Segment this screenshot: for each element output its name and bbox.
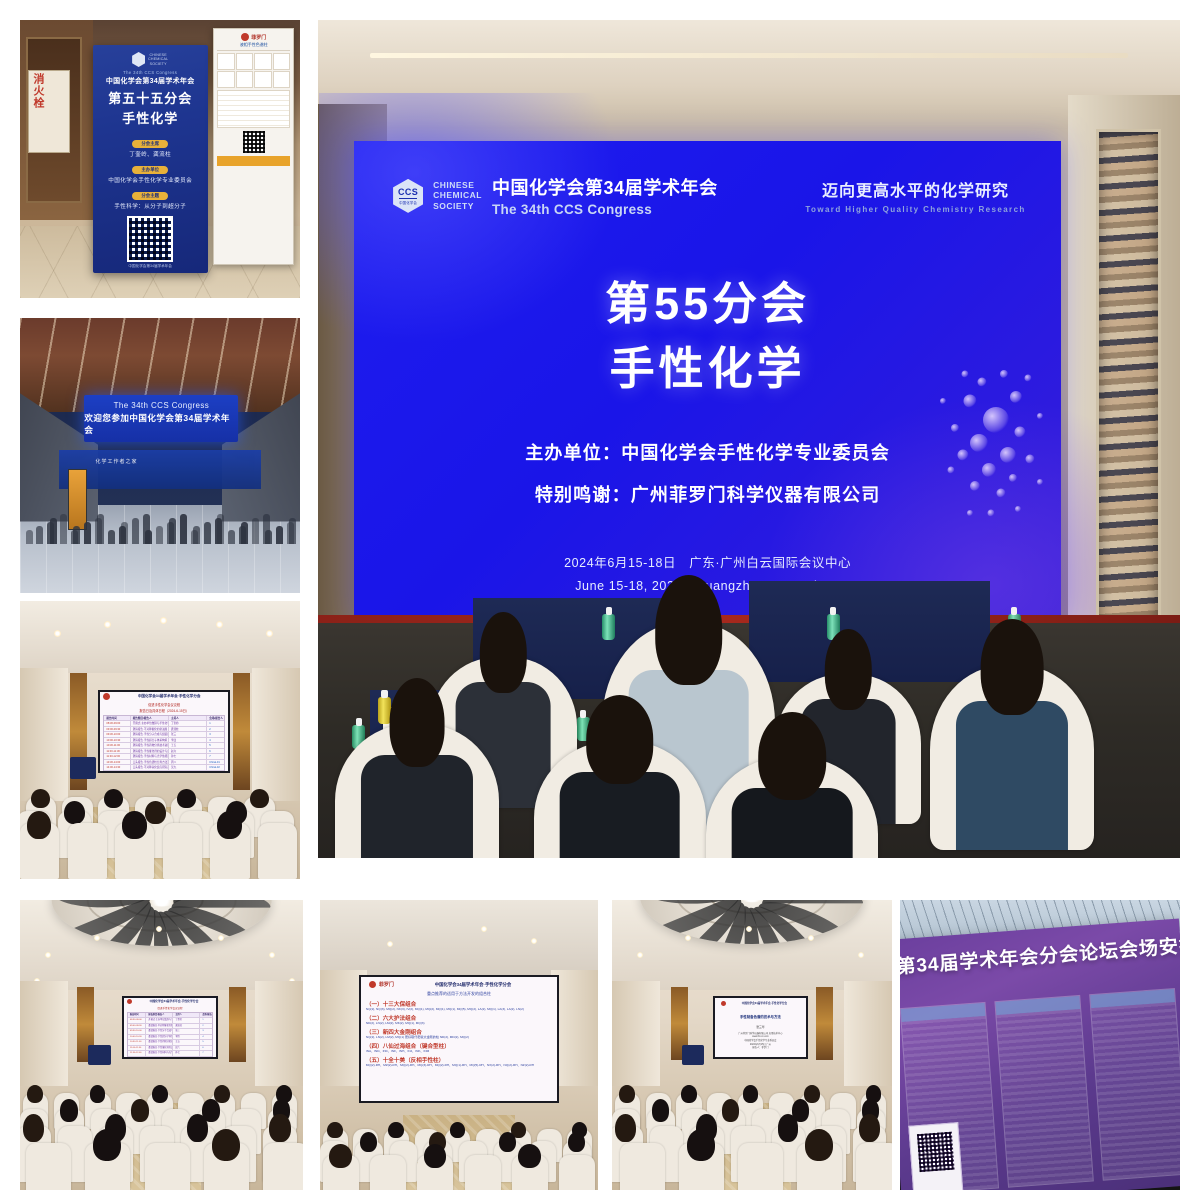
person xyxy=(228,530,235,544)
table-cell: 5 xyxy=(200,1040,212,1045)
projection-screen: 菲罗门 中国化学会34届学术年会·手性化学分会 重点推荐的适用于方法开发的组合柱… xyxy=(359,975,559,1103)
chromatogram xyxy=(217,71,235,88)
slide-title: 中国化学会34届学术年会·手性化学分会 xyxy=(135,999,213,1003)
attendee-head xyxy=(27,1085,43,1103)
chair xyxy=(738,1143,783,1190)
chair xyxy=(559,1155,595,1191)
person xyxy=(84,522,91,544)
poster-title: 液相手性色谱柱 xyxy=(217,42,290,48)
table-header-cell: 会场/报告人 xyxy=(200,1013,212,1018)
table-cell: 邀请报告·手性药物分离技术进展 xyxy=(146,1040,173,1045)
poster-qr-code xyxy=(243,131,265,153)
table-header-cell: 主持人 xyxy=(173,1013,200,1018)
attendee-head xyxy=(187,1114,208,1142)
chair xyxy=(370,1155,406,1191)
slide-subtitle: 重点推荐的适用于方法开发的组合柱 xyxy=(366,991,552,997)
person xyxy=(97,514,104,544)
table-cell: 2 xyxy=(207,727,224,732)
person xyxy=(252,518,259,544)
attendee-head xyxy=(131,1099,149,1121)
table-cell: 7 xyxy=(207,754,224,759)
table-cell: 3 xyxy=(207,732,224,737)
attendee-head xyxy=(388,1122,404,1139)
attendee-head xyxy=(859,1114,880,1142)
table-cell: 龚流柱 xyxy=(169,727,207,732)
table-cell: 6 xyxy=(207,749,224,754)
table-cell: 丁奎岭 xyxy=(173,1018,200,1023)
list-item-detail: INA、IND、INC、INF、INH、INJ、INK、INM xyxy=(366,1050,552,1054)
banner-organizer: 中国化学会手性化学专业委员会 xyxy=(98,176,203,184)
booth-label: 化学工作者之家 xyxy=(95,458,137,465)
led-banner-cn: 欢迎您参加中国化学会第34届学术年会 xyxy=(84,412,238,436)
attendee-head xyxy=(687,1129,715,1161)
chair xyxy=(620,1143,665,1190)
attendee xyxy=(732,724,853,858)
table-cell: 龚流柱 xyxy=(173,1024,200,1029)
brand-logo-icon xyxy=(241,33,249,41)
chromatogram xyxy=(273,71,291,88)
chromatogram-grid xyxy=(217,53,290,88)
slide-header: 中国化学会34届学术年会·手性化学分会 xyxy=(100,692,228,701)
attendee-body xyxy=(956,701,1068,849)
banner-session-line1: 第五十五分会 xyxy=(98,91,203,107)
attendee-head xyxy=(152,1085,168,1103)
audience xyxy=(318,20,1180,858)
banner-session-line2: 手性化学 xyxy=(98,111,203,127)
ccs-society-text: CHINESECHEMICALSOCIETY xyxy=(148,53,168,66)
poster-bottom-stripe xyxy=(217,156,290,166)
attendee-head xyxy=(805,1129,833,1161)
attendee-head xyxy=(778,1114,799,1142)
attendee-head xyxy=(214,1085,230,1103)
table-cell: 10:30-11:00 xyxy=(128,1040,147,1045)
photo-session-room-table-slide: 中国化学会34届学术年会·手性化学分会 促进手性化学会议议程 报告日及具体日程（… xyxy=(20,601,300,879)
table-cell: 邀请报告·手性分子合成与组装的前沿策略 xyxy=(146,1029,173,1034)
list-item-detail: NQ(2), LN(2), LM(2), MQ(1) 更好取代老版大金刚的柱 N… xyxy=(366,1036,552,1040)
photo-room-wide-left: 中国化学会34届学术年会·手性化学分会 促进手性化学会议议程 报告时间报告题目/… xyxy=(20,900,303,1190)
photo-room-list-slide: 菲罗门 中国化学会34届学术年会·手性化学分会 重点推荐的适用于方法开发的组合柱… xyxy=(320,900,598,1190)
board-rows xyxy=(1091,1002,1180,1180)
attendee-head xyxy=(499,1132,516,1153)
room-ceiling xyxy=(20,601,300,673)
slide-header: 菲罗门 中国化学会34届学术年会·手性化学分会 xyxy=(366,980,552,989)
poster-spec-table xyxy=(217,90,290,128)
person xyxy=(241,522,248,544)
list-item-detail: MQ(2)-RH、MZ(2)-RH、MQ(2)-RH、MQ(3)-RH、MQ(2… xyxy=(366,1064,552,1068)
table-cell: 张三 xyxy=(169,732,207,737)
slide-title: 中国化学会34届学术年会·手性化学分会 xyxy=(397,982,549,988)
table-cell: 开幕式·主办单位致辞与手性化学委员会介绍 xyxy=(146,1018,173,1023)
photo-collage: 消火栓 CHINESECHEMICALSOCIETY The 34th CCS … xyxy=(0,0,1200,1200)
banner-theme: 手性科学：从分子到超分子 xyxy=(98,202,203,210)
table-cell: 10:30-11:00 xyxy=(104,743,130,748)
audience xyxy=(612,1051,892,1190)
list-item: （二）六大护法组合ND(2), LN(2), LM(2), MK(2), MQ(… xyxy=(366,1014,552,1026)
attendee-head xyxy=(652,1099,669,1121)
table-cell: 11:30-12:00 xyxy=(104,754,130,759)
banner-congress-en: The 34th CCS Congress xyxy=(98,70,203,75)
chromatogram xyxy=(273,53,291,70)
table-cell: 5 xyxy=(207,743,224,748)
photo-schedule-board: 第34届学术年会分会论坛会场安排 xyxy=(900,900,1180,1190)
table-cell: 赵六 xyxy=(169,749,207,754)
divider xyxy=(217,50,290,51)
table-header-cell: 报告题目/报告人 xyxy=(146,1013,173,1018)
attendee xyxy=(559,707,680,858)
table-cell: 丁奎岭 xyxy=(169,721,207,726)
table-cell: 4 xyxy=(207,738,224,743)
attendee-head xyxy=(23,1114,44,1142)
photo-convention-hall: The 34th CCS Congress 欢迎您参加中国化学会第34届学术年会… xyxy=(20,318,300,593)
person xyxy=(36,526,43,544)
table-header-cell: 报告题目/报告人 xyxy=(131,716,169,721)
list-item: （一）十三大保组合NQ(2), NQ(3), MQ(2), NK(3), IV(… xyxy=(366,1000,552,1012)
table-cell: 张三 xyxy=(173,1029,200,1034)
table-cell: 李四 xyxy=(169,738,207,743)
person xyxy=(289,518,296,544)
schedule-board: 第34届学术年会分会论坛会场安排 xyxy=(900,918,1180,1190)
board-rows xyxy=(996,1009,1092,1187)
slide-list: 菲罗门 中国化学会34届学术年会·手性化学分会 重点推荐的适用于方法开发的组合柱… xyxy=(361,977,557,1101)
person xyxy=(169,518,176,544)
chair xyxy=(263,1143,303,1190)
banner-congress-cn: 中国化学会第34届学术年会 xyxy=(98,76,203,86)
table-cell: 邀请报告·手性超分子体系构筑 xyxy=(131,738,169,743)
attendee-head xyxy=(360,1132,377,1153)
attendee xyxy=(956,632,1068,850)
person xyxy=(180,514,187,544)
table-cell: 10:00-10:30 xyxy=(128,1035,147,1040)
table-cell: 1 xyxy=(207,721,224,726)
banner-qr-code xyxy=(127,216,173,262)
table-header-cell: 报告时间 xyxy=(128,1013,147,1018)
list-item: （五）十全十美（反相手性柱）MQ(2)-RH、MZ(2)-RH、MQ(2)-RH… xyxy=(366,1056,552,1068)
attendee-head xyxy=(655,575,723,686)
attendee-head xyxy=(104,789,123,809)
brand-logo-icon xyxy=(369,981,376,988)
led-welcome-banner: The 34th CCS Congress 欢迎您参加中国化学会第34届学术年会 xyxy=(84,395,238,442)
projection-screen: 中国化学会34届学术年会·手性化学分会 促进手性化学会议议程 报告日及具体日程（… xyxy=(98,690,230,773)
attendee-head xyxy=(480,612,526,693)
room-ceiling xyxy=(320,900,598,975)
chromatogram xyxy=(236,71,254,88)
board-column-2 xyxy=(994,995,1094,1188)
chair xyxy=(465,1155,501,1191)
attendee-head xyxy=(825,629,871,710)
table-cell: 4 xyxy=(200,1035,212,1040)
banner-organizer-label: 主办单位 xyxy=(132,166,168,174)
audience xyxy=(20,762,300,879)
table-cell: 09:30-10:00 xyxy=(104,732,130,737)
person xyxy=(193,526,200,544)
table-cell: 邀请报告·不对称催化的新进展 xyxy=(131,727,169,732)
attendee-head xyxy=(586,695,654,783)
table-cell: 邀请报告·手性分子合成与组装的前沿策略 xyxy=(131,732,169,737)
slide-main-title: 手性制备色谱的技术与方法 xyxy=(718,1014,803,1019)
table-cell: 3 xyxy=(200,1029,212,1034)
board-qr-panel xyxy=(908,1122,963,1190)
attendee-head xyxy=(518,1144,540,1169)
slide-affiliation-lines: 广州菲罗门科学仪器有限公司 应用技术中心www.flm.cn.com中国化学会手… xyxy=(718,1033,803,1051)
attendee-head xyxy=(804,1085,820,1103)
audience xyxy=(320,1091,598,1190)
ccs-hex-icon xyxy=(132,52,145,67)
chair xyxy=(163,823,202,879)
led-banner-en: The 34th CCS Congress xyxy=(114,401,210,410)
attendee-head xyxy=(217,811,241,839)
table-header-cell: 报告时间 xyxy=(104,716,130,721)
slide-header: 中国化学会34届学术年会·手性化学分会 xyxy=(124,998,216,1005)
chromatogram xyxy=(236,53,254,70)
table-cell: 11:00-11:30 xyxy=(104,749,130,754)
photo-rollup-banner: 消火栓 CHINESECHEMICALSOCIETY The 34th CCS … xyxy=(20,20,300,298)
table-cell: 王五 xyxy=(173,1040,200,1045)
attendee-head xyxy=(145,801,166,824)
table-cell: 09:30-10:00 xyxy=(128,1029,147,1034)
attendee xyxy=(361,690,473,858)
person xyxy=(204,522,211,544)
slide-subtitle: 促进手性化学会议议程 xyxy=(124,1006,216,1010)
poster-brand: 菲罗门 xyxy=(251,34,266,41)
slide-title-page: 中国化学会34届学术年会·手性化学分会 手性制备色谱的技术与方法 张三华 广州菲… xyxy=(715,998,806,1058)
photo-main-stage: CCS 中国化学会 CHINESECHEMICALSOCIETY 中国化学会第3… xyxy=(318,20,1180,858)
attendee-head xyxy=(681,1085,697,1103)
attendee-head xyxy=(27,811,51,839)
attendee-head xyxy=(60,1099,78,1121)
table-cell: 邀请报告·手性催化剂的设计与应用 xyxy=(146,1046,173,1051)
attendee-body xyxy=(559,772,680,858)
photo-room-title-slide: 中国化学会34届学术年会·手性化学分会 手性制备色谱的技术与方法 张三华 广州菲… xyxy=(612,900,892,1190)
board-column-3 xyxy=(1089,988,1180,1181)
table-cell: 孙七 xyxy=(169,754,207,759)
table-cell: 2 xyxy=(200,1024,212,1029)
poster-board: 菲罗门 液相手性色谱柱 xyxy=(213,28,294,264)
slide-title: 中国化学会34届学术年会·手性化学分会 xyxy=(113,694,225,699)
poster-brand-row: 菲罗门 xyxy=(217,33,290,41)
slide-table: 中国化学会34届学术年会·手性化学分会 促进手性化学会议议程 报告时间报告题目/… xyxy=(124,998,216,1058)
slide-subtitle: 促进手性化学会议议程 xyxy=(100,702,228,707)
banner-theme-label: 分会主题 xyxy=(132,192,168,200)
chair xyxy=(145,1143,190,1190)
person xyxy=(26,530,33,544)
rollup-banner: CHINESECHEMICALSOCIETY The 34th CCS Cong… xyxy=(93,45,208,273)
attendee-head xyxy=(450,1122,466,1139)
person xyxy=(145,530,152,544)
attendee-head xyxy=(327,1122,343,1139)
attendee-head xyxy=(758,712,826,800)
person xyxy=(73,526,80,544)
board-title: 第34届学术年会分会论坛会场安排 xyxy=(900,930,1180,979)
brand-logo-icon xyxy=(103,693,110,700)
attendee-head xyxy=(619,1085,635,1103)
table-cell: 邀请报告·手性催化剂的设计与应用 xyxy=(131,749,169,754)
chair xyxy=(258,823,297,879)
slide-header: 中国化学会34届学术年会·手性化学分会 xyxy=(718,1000,803,1007)
table-cell: 邀请报告·不对称催化的新进展 xyxy=(146,1024,173,1029)
table-cell: 1 xyxy=(200,1018,212,1023)
attendee-head xyxy=(90,1085,106,1103)
table-cell: 开幕式·主办单位致辞与手性化学委员会介绍 xyxy=(131,721,169,726)
table-cell: 邀请报告·手性材料与光学性能调控 xyxy=(131,754,169,759)
table-cell: 赵六 xyxy=(173,1046,200,1051)
attendee-head xyxy=(722,1099,739,1121)
wall-mural-right xyxy=(816,987,833,1060)
attendee-head xyxy=(269,1114,290,1142)
audience xyxy=(20,1051,303,1190)
person xyxy=(121,522,128,544)
attendee-head xyxy=(177,789,196,809)
attendee-head xyxy=(390,678,445,766)
slide-brand: 菲罗门 xyxy=(379,981,394,988)
attendee-head xyxy=(212,1129,240,1161)
chair xyxy=(26,1143,71,1190)
combination-list: （一）十三大保组合NQ(2), NQ(3), MQ(2), NK(3), IV(… xyxy=(366,1000,552,1067)
attendee-head xyxy=(743,1085,759,1103)
person xyxy=(108,530,115,544)
attendee-head xyxy=(31,789,50,809)
attendee-head xyxy=(122,811,146,839)
person xyxy=(217,514,224,544)
list-item-detail: NQ(2), NQ(3), MQ(2), NK(3), IV(2), MQ(1)… xyxy=(366,1008,552,1012)
fire-hydrant-sign: 消火栓 xyxy=(28,70,70,153)
attendee-body xyxy=(361,755,473,858)
chromatogram xyxy=(217,53,235,70)
attendee-head xyxy=(64,801,85,824)
banner-footer: 中国化学会第34届学术年会 xyxy=(98,264,203,269)
list-item-detail: ND(2), LN(2), LM(2), MK(2), MQ(1), MQ(3) xyxy=(366,1022,552,1026)
banner-logo-row: CHINESECHEMICALSOCIETY xyxy=(98,52,203,67)
table-cell: 09:00-09:30 xyxy=(128,1024,147,1029)
chromatogram xyxy=(254,71,272,88)
attendee-head xyxy=(93,1129,121,1161)
slide-header-title: 中国化学会34届学术年会·手性化学分会 xyxy=(729,1001,800,1005)
table-cell: 王五 xyxy=(169,743,207,748)
person xyxy=(276,526,283,544)
person xyxy=(50,518,57,544)
table-header-cell: 主持人 xyxy=(169,716,207,721)
chair xyxy=(68,823,107,879)
attendee-head xyxy=(981,619,1044,715)
slide-subtitle2: 报告日及具体日程（2024-6-15日） xyxy=(100,708,228,713)
table-cell: 08:30-09:00 xyxy=(128,1018,147,1023)
attendee-head xyxy=(568,1132,585,1153)
crowd xyxy=(20,478,300,544)
person xyxy=(265,530,272,544)
chair xyxy=(856,1143,892,1190)
attendee-head xyxy=(615,1114,636,1142)
banner-chairs: 丁奎岭、龚流柱 xyxy=(98,150,203,158)
table-cell: 邀请报告·手性药物分离技术进展 xyxy=(131,743,169,748)
table-cell: 11:00-11:30 xyxy=(128,1046,147,1051)
fire-hydrant-label: 消火栓 xyxy=(29,71,45,111)
table-cell: 6 xyxy=(200,1046,212,1051)
table-cell: 10:00-10:30 xyxy=(104,738,130,743)
chromatogram xyxy=(254,53,272,70)
table-header-cell: 会场/报告人 xyxy=(207,716,224,721)
table-cell: 邀请报告·手性超分子体系构筑 xyxy=(146,1035,173,1040)
table-cell: 李四 xyxy=(173,1035,200,1040)
person xyxy=(156,526,163,544)
banner-chairs-label: 分会主席 xyxy=(132,140,168,148)
slide-speaker: 张三华 xyxy=(718,1025,803,1029)
attendee-head xyxy=(424,1144,446,1169)
slide-table: 中国化学会34届学术年会·手性化学分会 促进手性化学会议议程 报告日及具体日程（… xyxy=(100,692,228,771)
table-cell: 09:00-09:30 xyxy=(104,727,130,732)
attendee-head xyxy=(329,1144,351,1169)
brand-logo-icon xyxy=(127,999,132,1004)
person xyxy=(60,514,67,544)
list-item: （三）新四大金刚组合NQ(2), LN(2), LM(2), MQ(1) 更好取… xyxy=(366,1028,552,1040)
brand-logo-icon xyxy=(721,1001,726,1006)
table-cell: 08:30-09:00 xyxy=(104,721,130,726)
list-item: （四）八仙过海组合（键合型柱）INA、IND、INC、INF、INH、INJ、I… xyxy=(366,1042,552,1054)
attendee-head xyxy=(250,789,269,809)
person xyxy=(132,518,139,544)
